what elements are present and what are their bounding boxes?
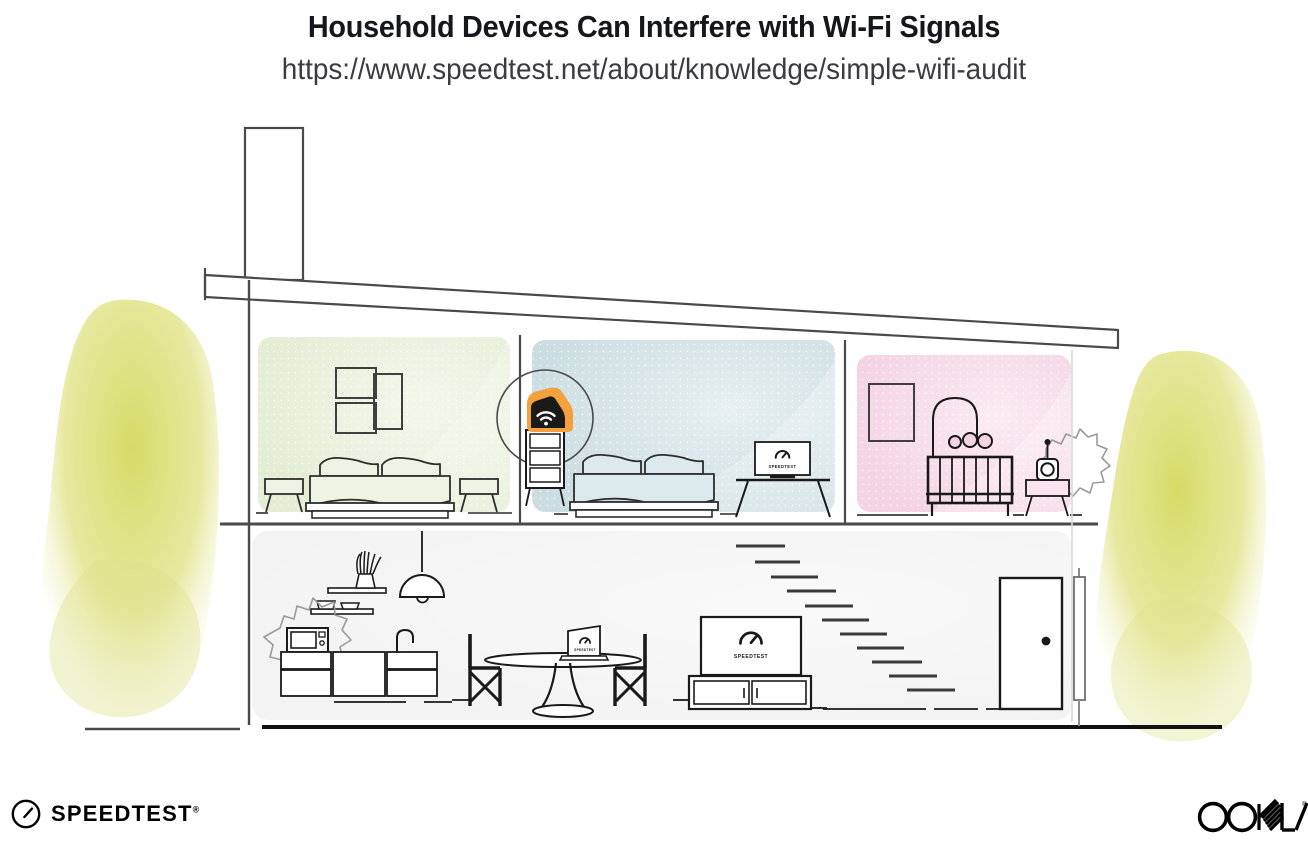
chimney	[245, 128, 303, 280]
ookla-logo: ®	[1196, 793, 1308, 844]
laptop-speedtest: SPEEDTEST	[560, 626, 608, 660]
foliage-right	[1096, 351, 1266, 742]
speedtest-gauge-icon	[10, 798, 42, 830]
tv-speedtest: SPEEDTEST	[701, 617, 801, 681]
ookla-wordmark-icon: ®	[1196, 793, 1308, 839]
room-bedroom-blue: SPEEDTEST	[497, 340, 835, 517]
sidelight-window	[1074, 568, 1085, 726]
media-console	[673, 676, 827, 709]
house-cutaway-illustration: SPEEDTEST	[0, 0, 1308, 861]
room-bedroom-green	[256, 337, 512, 518]
microwave	[287, 628, 328, 652]
room-living-kitchen: SPEEDTEST	[252, 531, 1072, 720]
screen-label: SPEEDTEST	[769, 464, 797, 469]
front-door	[1000, 578, 1062, 709]
foliage-left	[40, 300, 219, 737]
speedtest-trademark: ®	[193, 805, 200, 815]
door-knob-icon	[1042, 637, 1051, 646]
screen-label: SPEEDTEST	[574, 648, 596, 652]
speedtest-logo: SPEEDTEST®	[10, 798, 199, 830]
monitor-speedtest-bedroom: SPEEDTEST	[755, 442, 810, 478]
illustration-page: Household Devices Can Interfere with Wi-…	[0, 0, 1308, 861]
speedtest-wordmark: SPEEDTEST®	[51, 801, 199, 827]
roof-slab	[205, 268, 1118, 348]
ground-line	[85, 727, 1222, 729]
speedtest-wordmark-text: SPEEDTEST	[51, 801, 193, 826]
screen-label: SPEEDTEST	[734, 654, 768, 660]
ookla-trademark: ®	[1302, 801, 1307, 808]
kitchen-cabinets	[281, 652, 452, 702]
